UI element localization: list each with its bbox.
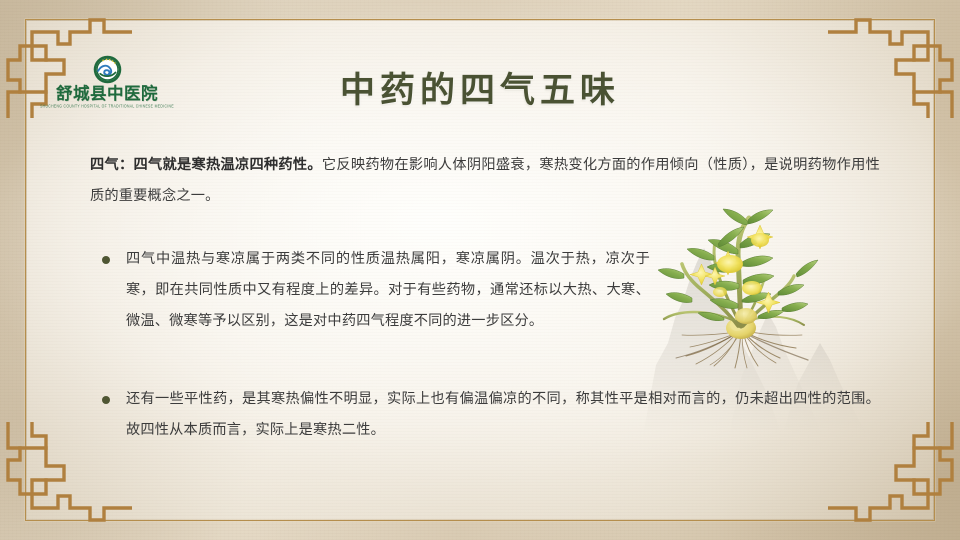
page-title: 中药的四气五味 [0, 62, 960, 113]
slide-content: 四气：四气就是寒热温凉四种药性。它反映药物在影响人体阴阳盛衰，寒热变化方面的作用… [90, 150, 880, 212]
intro-lead: 四气：四气就是寒热温凉四种药性。 [90, 157, 322, 173]
intro-paragraph: 四气：四气就是寒热温凉四种药性。它反映药物在影响人体阴阳盛衰，寒热变化方面的作用… [90, 150, 880, 212]
list-item-text: 四气中温热与寒凉属于两类不同的性质温热属阳，寒凉属阴。温次于热，凉次于寒，即在共… [126, 244, 650, 337]
slide-canvas: 舒城县中医院 SHUCHENG COUNTY HOSPITAL OF TRADI… [0, 0, 960, 540]
bullet-dot-icon [102, 256, 110, 264]
list-item-text: 还有一些平性药，是其寒热偏性不明显，实际上也有偏温偏凉的不同，称其性平是相对而言… [126, 384, 880, 446]
bullet-dot-icon [102, 396, 110, 404]
list-item: 还有一些平性药，是其寒热偏性不明显，实际上也有偏温偏凉的不同，称其性平是相对而言… [90, 384, 880, 446]
list-item: 四气中温热与寒凉属于两类不同的性质温热属阳，寒凉属阴。温次于热，凉次于寒，即在共… [90, 244, 650, 337]
